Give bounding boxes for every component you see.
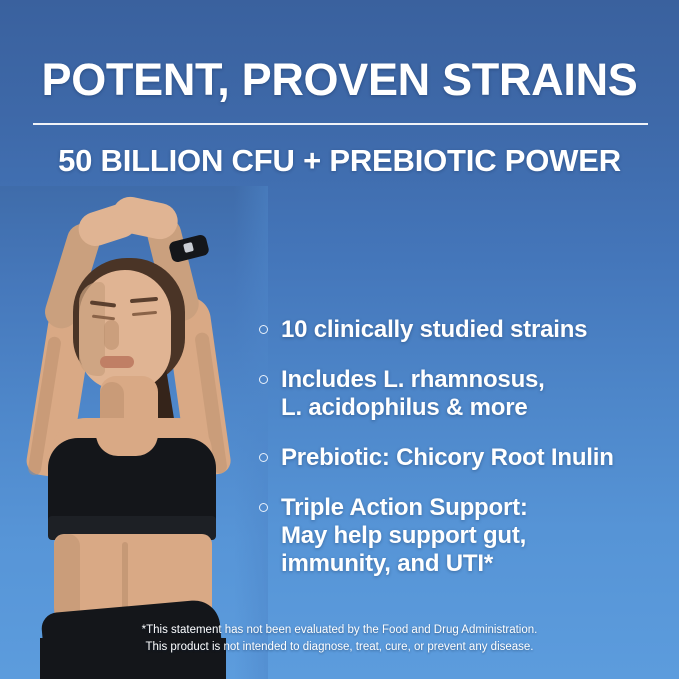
page-title: POTENT, PROVEN STRAINS [0, 57, 679, 102]
list-item: Includes L. rhamnosus, L. acidophilus & … [258, 366, 673, 422]
feature-list: 10 clinically studied strains Includes L… [258, 316, 673, 579]
page-subtitle: 50 BILLION CFU + PREBIOTIC POWER [0, 145, 679, 176]
hollow-circle-icon [259, 503, 268, 512]
list-item-line: immunity, and UTI* [281, 550, 673, 578]
lips [100, 356, 134, 368]
list-item-line: L. acidophilus & more [281, 394, 673, 422]
nose [104, 320, 119, 350]
disclaimer-line-1: *This statement has not been evaluated b… [0, 622, 679, 639]
list-item: Triple Action Support: May help support … [258, 494, 673, 578]
header-divider [33, 123, 648, 125]
list-item-line: Triple Action Support: [281, 494, 673, 522]
list-item-line: 10 clinically studied strains [281, 316, 673, 344]
disclaimer-line-2: This product is not intended to diagnose… [0, 639, 679, 656]
lifestyle-photo [0, 186, 268, 679]
list-item-line: May help support gut, [281, 522, 673, 550]
list-item: 10 clinically studied strains [258, 316, 673, 344]
hollow-circle-icon [259, 375, 268, 384]
abdomen-midline [122, 542, 128, 612]
list-item: Prebiotic: Chicory Root Inulin [258, 444, 673, 472]
hollow-circle-icon [259, 325, 268, 334]
product-marketing-card: POTENT, PROVEN STRAINS 50 BILLION CFU + … [0, 0, 679, 679]
list-item-line: Prebiotic: Chicory Root Inulin [281, 444, 673, 472]
hollow-circle-icon [259, 453, 268, 462]
list-item-line: Includes L. rhamnosus, [281, 366, 673, 394]
legal-disclaimer: *This statement has not been evaluated b… [0, 622, 679, 655]
